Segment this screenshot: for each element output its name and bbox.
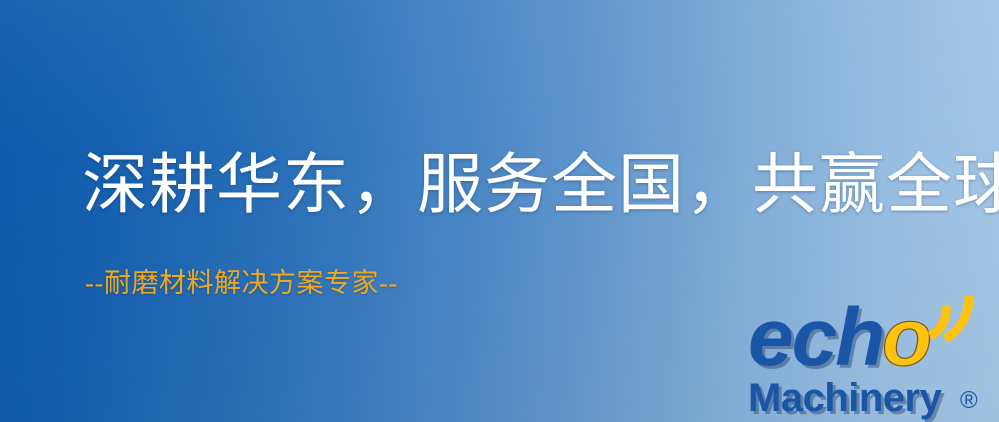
company-logo[interactable]: ech Machinery ech o Machinery ® [746, 292, 999, 422]
hero-banner: 深耕华东，服务全国，共赢全球 --耐磨材料解决方案专家-- ech Machin… [0, 0, 999, 422]
signal-wave-icon [930, 296, 969, 339]
registered-trademark-icon: ® [960, 387, 978, 414]
logo-brand-accent-letter: o [882, 292, 930, 383]
banner-headline: 深耕华东，服务全国，共赢全球 [82, 147, 999, 225]
logo-tagline: Machinery [748, 376, 943, 420]
banner-subtitle: --耐磨材料解决方案专家-- [85, 266, 398, 300]
logo-brand-prefix: ech [748, 292, 883, 383]
